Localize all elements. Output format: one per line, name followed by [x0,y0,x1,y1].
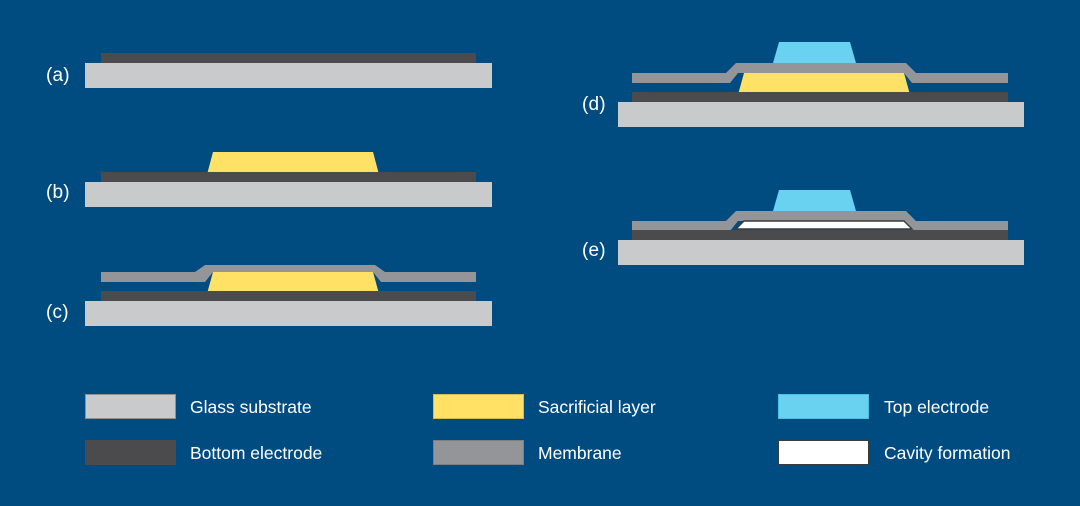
panel-d-top-electrode [773,42,856,63]
legend-label-bottom-electrode: Bottom electrode [190,440,322,466]
panel-label-e: (e) [582,240,606,262]
panel-a [85,53,492,88]
panel-a-glass-substrate [85,63,492,88]
legend-swatch-sacrificial-layer [433,394,524,419]
panel-label-d: (d) [582,94,606,116]
legend-swatch-top-electrode [778,394,869,419]
legend-label-sacrificial-layer: Sacrificial layer [538,394,656,420]
panel-c-bottom-electrode [101,291,476,301]
panel-e-top-electrode [773,190,856,211]
legend-swatch-membrane [433,440,524,465]
panel-label-b: (b) [46,182,70,204]
legend-swatch-bottom-electrode [85,440,176,465]
legend-label-glass-substrate: Glass substrate [190,394,312,420]
legend-label-top-electrode: Top electrode [884,394,989,420]
panel-c [85,265,492,326]
legend-label-membrane: Membrane [538,440,622,466]
panel-c-glass-substrate [85,301,492,326]
panel-label-c: (c) [46,302,69,324]
legend-label-cavity-formation: Cavity formation [884,440,1010,466]
panel-b-glass-substrate [85,182,492,207]
process-flow-figure [0,0,1080,506]
panel-d-glass-substrate [618,102,1024,127]
panel-e-glass-substrate [618,240,1024,265]
panel-a-bottom-electrode [101,53,476,63]
panel-label-a: (a) [46,65,70,87]
panel-e-bottom-electrode [632,230,1008,240]
legend-swatch-glass-substrate [85,394,176,419]
legend-swatch-cavity-formation [778,440,869,465]
panel-d-bottom-electrode [632,92,1008,102]
panel-b-bottom-electrode [101,172,476,182]
